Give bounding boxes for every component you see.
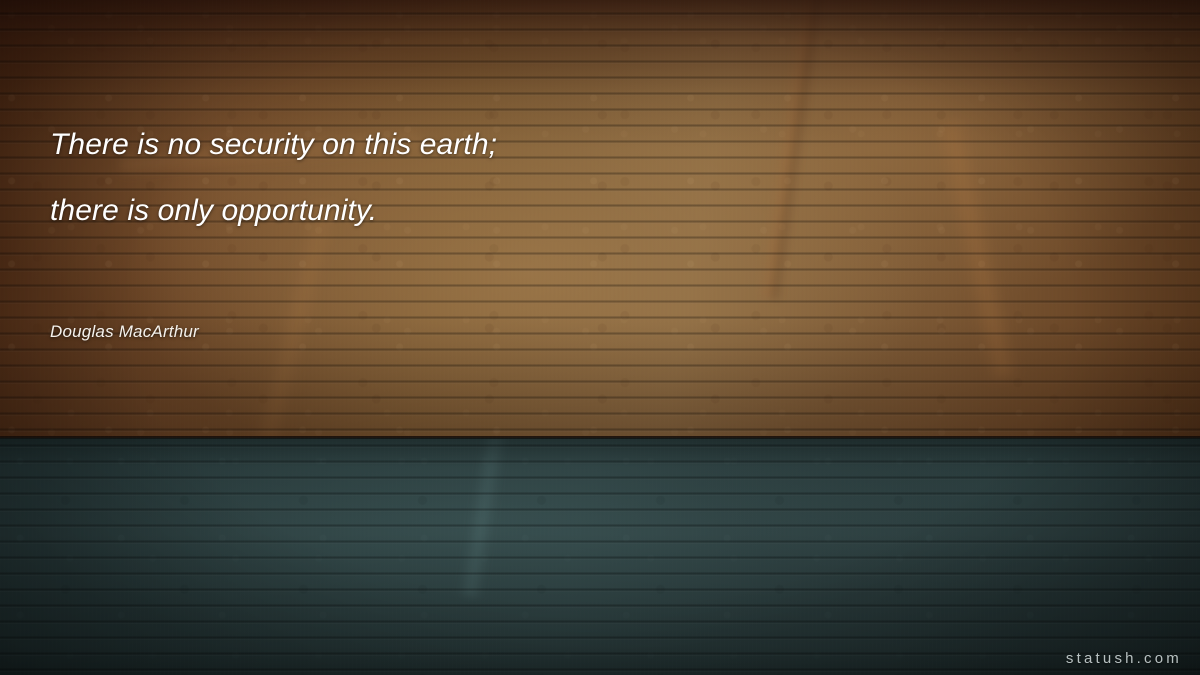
- quote-line-1: There is no security on this earth;: [50, 112, 1140, 178]
- quote-line-2: there is only opportunity.: [50, 178, 1140, 244]
- background-bottom-panel: [0, 438, 1200, 675]
- bottom-shadow-overlay: [0, 438, 1200, 675]
- quote-card: There is no security on this earth; ther…: [0, 0, 1200, 675]
- quote-author: Douglas MacArthur: [50, 322, 199, 342]
- site-watermark: statush.com: [1066, 650, 1182, 667]
- panel-divider: [0, 436, 1200, 439]
- quote-text: There is no security on this earth; ther…: [50, 112, 1140, 244]
